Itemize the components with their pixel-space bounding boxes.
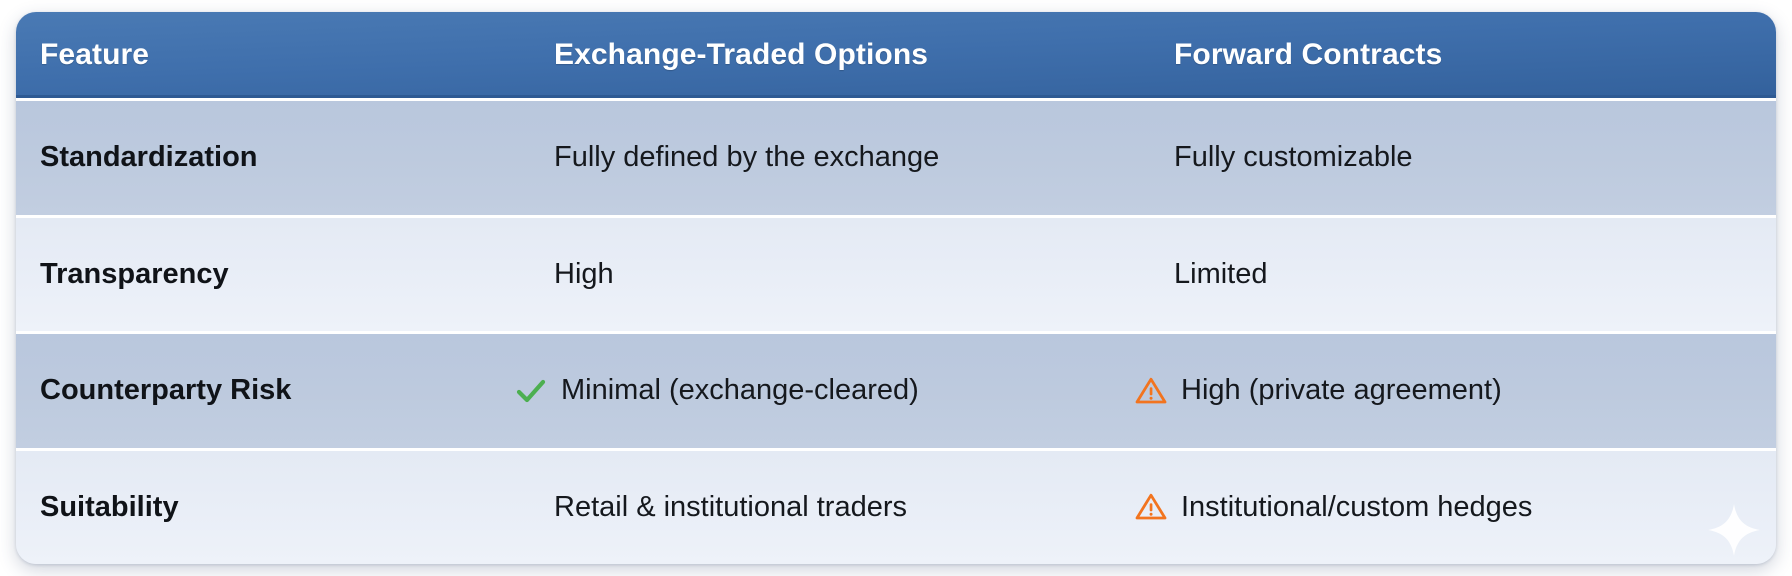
cell-text: Retail & institutional traders <box>554 491 907 524</box>
row-feature-cell: Standardization <box>16 141 496 174</box>
cell-content: Institutional/custom hedges <box>1116 490 1532 524</box>
row-cell-exchange-traded-options: Minimal (exchange-cleared) <box>496 374 1116 408</box>
cell-text: Fully customizable <box>1174 141 1413 174</box>
column-header-feature-label: Feature <box>40 38 149 71</box>
row-cell-exchange-traded-options: Retail & institutional traders <box>496 491 1116 524</box>
cell-content: High <box>496 258 614 291</box>
row-feature-cell: Transparency <box>16 258 496 291</box>
warning-triangle-icon <box>1134 374 1168 408</box>
row-feature-cell: Suitability <box>16 491 496 524</box>
row-feature-cell: Counterparty Risk <box>16 374 496 407</box>
row-cell-forward-contracts: Institutional/custom hedges <box>1116 490 1776 524</box>
cell-content: Minimal (exchange-cleared) <box>496 374 919 408</box>
row-cell-forward-contracts: Fully customizable <box>1116 141 1776 174</box>
comparison-table: Feature Exchange-Traded Options Forward … <box>16 12 1776 564</box>
column-header-exchange-traded-options: Exchange-Traded Options <box>496 38 1116 72</box>
cell-content: High (private agreement) <box>1116 374 1502 408</box>
cell-text: High (private agreement) <box>1181 374 1502 407</box>
check-icon <box>514 374 548 408</box>
column-header-exchange-traded-options-label: Exchange-Traded Options <box>554 38 928 72</box>
cell-content: Fully defined by the exchange <box>496 141 939 174</box>
row-cell-exchange-traded-options: High <box>496 258 1116 291</box>
row-feature-label: Suitability <box>40 491 179 523</box>
row-feature-label: Counterparty Risk <box>40 374 291 406</box>
cell-text: Minimal (exchange-cleared) <box>561 374 919 407</box>
cell-text: Institutional/custom hedges <box>1181 491 1532 524</box>
table-header-row: Feature Exchange-Traded Options Forward … <box>16 12 1776 98</box>
cell-text: High <box>554 258 614 291</box>
comparison-table-container: Feature Exchange-Traded Options Forward … <box>6 4 1786 572</box>
cell-text: Limited <box>1174 258 1268 291</box>
cell-content: Retail & institutional traders <box>496 491 907 524</box>
warning-triangle-icon <box>1134 490 1168 524</box>
table-row: Counterparty Risk Minimal (exchange-clea… <box>16 331 1776 448</box>
row-feature-label: Transparency <box>40 258 229 290</box>
table-row: Transparency High Limited <box>16 215 1776 332</box>
cell-text: Fully defined by the exchange <box>554 141 939 174</box>
row-cell-forward-contracts: Limited <box>1116 258 1776 291</box>
row-cell-forward-contracts: High (private agreement) <box>1116 374 1776 408</box>
cell-content: Limited <box>1116 258 1268 291</box>
row-cell-exchange-traded-options: Fully defined by the exchange <box>496 141 1116 174</box>
column-header-forward-contracts-label: Forward Contracts <box>1174 38 1442 72</box>
column-header-forward-contracts: Forward Contracts <box>1116 38 1776 72</box>
cell-content: Fully customizable <box>1116 141 1413 174</box>
row-feature-label: Standardization <box>40 141 258 173</box>
table-row: Standardization Fully defined by the exc… <box>16 98 1776 215</box>
column-header-feature: Feature <box>16 38 496 72</box>
table-row: Suitability Retail & institutional trade… <box>16 448 1776 565</box>
